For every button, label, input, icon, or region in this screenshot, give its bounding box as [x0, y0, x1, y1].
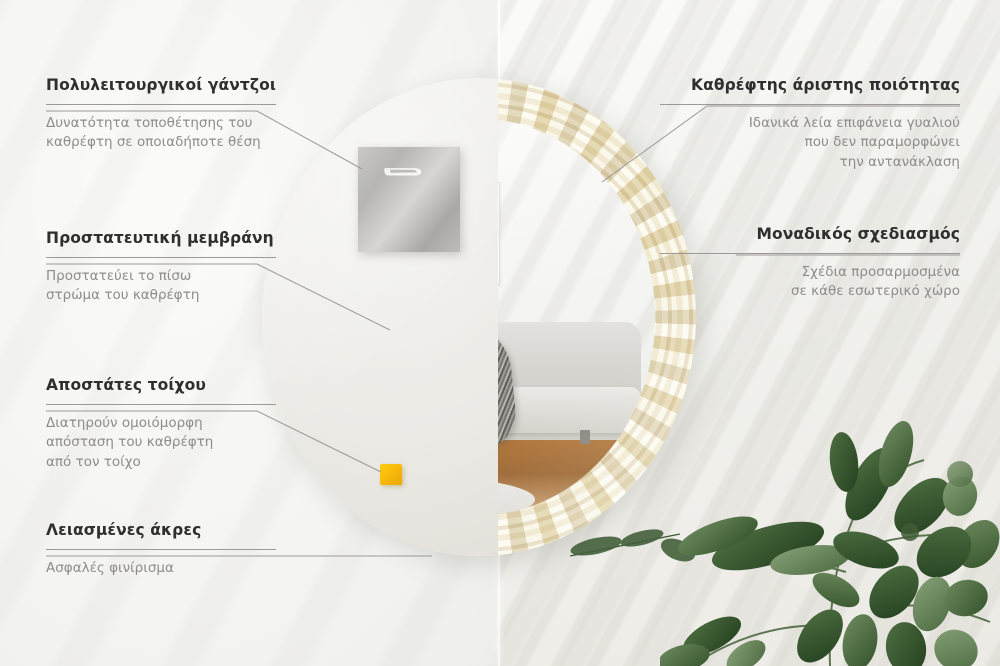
callout-spacers-rule [46, 404, 276, 405]
callout-membrane-body: Προστατεύει το πίσω στρώμα του καθρέφτη [46, 267, 276, 306]
yellow-wall-spacer [380, 464, 402, 485]
callout-quality-title: Καθρέφτης άριστης ποιότητας [660, 76, 960, 95]
mirror-body [262, 78, 696, 556]
callout-hooks-rule [46, 104, 276, 105]
callout-hooks-body: Δυνατότητα τοποθέτησης του καθρέφτη σε ο… [46, 114, 276, 153]
callout-edges-rule [46, 549, 276, 550]
callout-design-title: Μοναδικός σχεδιασμός [660, 225, 960, 244]
callout-edges-title: Λειασμένες άκρες [46, 521, 276, 540]
mounting-hook-plate [358, 147, 460, 252]
callout-edges: Λειασμένες άκρες Ασφαλές φινίρισμα [46, 521, 276, 578]
callout-design: Μοναδικός σχεδιασμός Σχέδια προσαρμοσμέν… [660, 225, 960, 302]
hook-slot-icon [380, 165, 437, 179]
callout-membrane: Προστατευτική μεμβράνη Προστατεύει το πί… [46, 229, 276, 306]
callout-edges-body: Ασφαλές φινίρισμα [46, 559, 276, 579]
callout-spacers: Αποστάτες τοίχου Διατηρούν ομοιόμορφη απ… [46, 376, 276, 472]
product-feature-infographic: Πολυλειτουργικοί γάντζοι Δυνατότητα τοπο… [0, 0, 1000, 666]
callout-hooks-title: Πολυλειτουργικοί γάντζοι [46, 76, 276, 95]
callout-membrane-title: Προστατευτική μεμβράνη [46, 229, 276, 248]
callout-quality: Καθρέφτης άριστης ποιότητας Ιδανικά λεία… [660, 76, 960, 172]
callout-quality-rule [660, 104, 960, 105]
callout-hooks: Πολυλειτουργικοί γάντζοι Δυνατότητα τοπο… [46, 76, 276, 153]
callout-quality-body: Ιδανικά λεία επιφάνεια γυαλιού που δεν π… [660, 114, 960, 173]
sofa-leg [580, 430, 590, 443]
callout-membrane-rule [46, 257, 276, 258]
callout-design-body: Σχέδια προσαρμοσμένα σε κάθε εσωτερικό χ… [660, 263, 960, 302]
callout-design-rule [660, 253, 960, 254]
callout-spacers-body: Διατηρούν ομοιόμορφη απόσταση του καθρέφ… [46, 414, 276, 473]
round-mirror-graphic [262, 78, 696, 556]
callout-spacers-title: Αποστάτες τοίχου [46, 376, 276, 395]
